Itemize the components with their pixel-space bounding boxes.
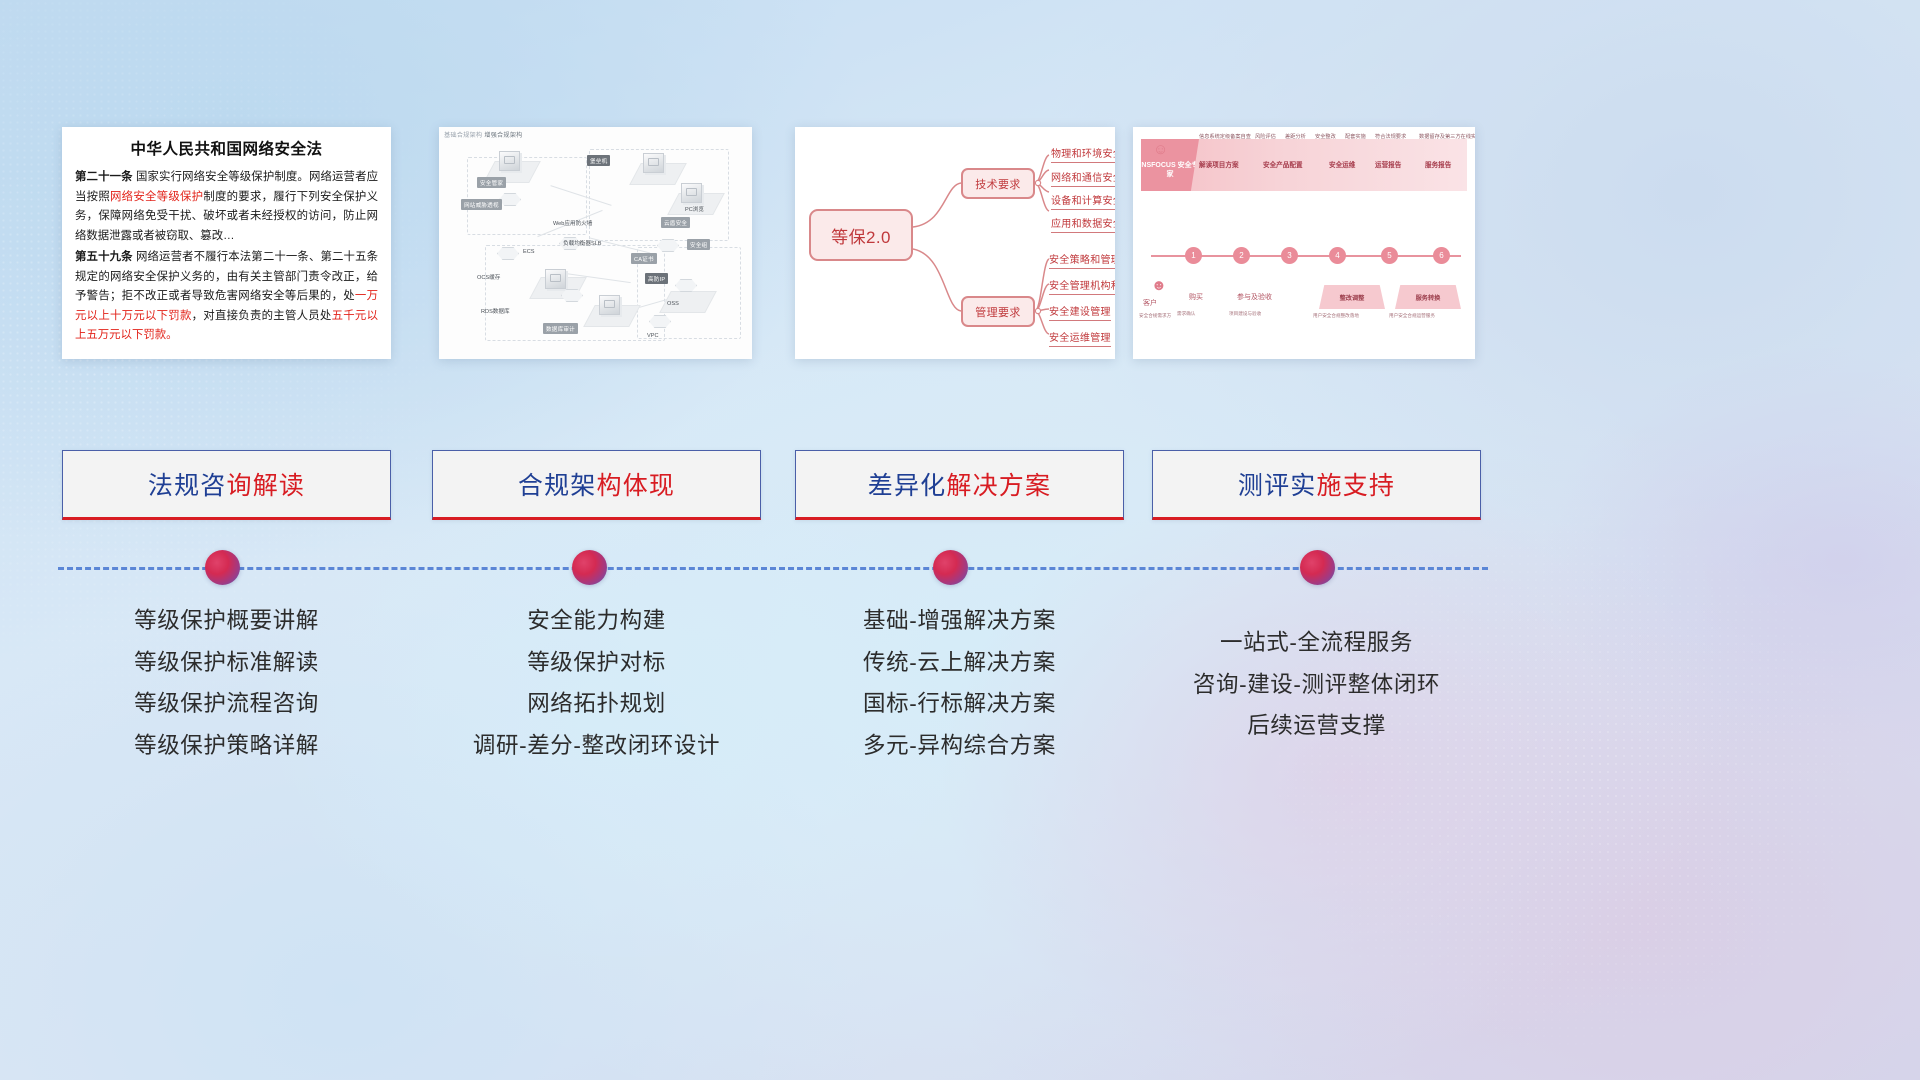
roadmap-band-top-1: 风险评估 (1255, 133, 1276, 140)
architecture-label-rds: RDS数据库 (481, 307, 510, 315)
roadmap-band-main-4: 服务报告 (1425, 159, 1451, 169)
label-2-blue: 差异化 (868, 472, 947, 500)
architecture-tag-ca: CA证书 (631, 253, 657, 264)
customer-person-icon: ☻ (1151, 277, 1167, 294)
roadmap-left-label-1: 参与及验收 (1237, 293, 1272, 303)
roadmap-band-top-0: 信息系统定级备案自查 (1199, 133, 1251, 140)
list-item: 等级保护对标 (432, 642, 761, 684)
mindmap-leaf-mgmt-3: 安全运维管理 (1049, 329, 1111, 347)
roadmap-right-sublabel-0: 用户安全合规整改落地 (1313, 313, 1359, 319)
law-article-59-number: 第五十九条 (75, 251, 133, 263)
roadmap-step-4[interactable]: 4 (1329, 247, 1346, 264)
label-1-blue: 合规架 (518, 472, 597, 500)
list-item: 安全能力构建 (432, 600, 761, 642)
timeline-dot-3[interactable] (933, 550, 968, 585)
architecture-header-enhanced: 增强合规架构 (484, 132, 522, 139)
architecture-label-pc: PC浏览 (685, 205, 704, 213)
roadmap-step-3[interactable]: 3 (1281, 247, 1298, 264)
roadmap-right-sublabel-1: 用户安全合规运营服务 (1389, 313, 1435, 319)
timeline-dashed-line (58, 567, 1488, 570)
architecture-tag-1: 安全管家 (477, 177, 506, 188)
detail-list-2: 安全能力构建 等级保护对标 网络拓扑规划 调研-差分-整改闭环设计 (432, 600, 761, 766)
roadmap-band-top-6: 数据留存及第三方在线实时对接 (1419, 133, 1475, 140)
list-item: 网络拓扑规划 (432, 683, 761, 725)
roadmap-step-6[interactable]: 6 (1433, 247, 1450, 264)
architecture-tag-0: 堡垒机 (587, 155, 610, 166)
law-article-21: 第二十一条 国家实行网络安全等级保护制度。网络运营者应当按照网络安全等级保护制度… (75, 168, 378, 246)
mindmap-canvas: 等保2.0 技术要求 物理和环境安全 网络和通信安全 设备和计算安全 应用和数据… (795, 127, 1115, 359)
label-box-evaluation-support[interactable]: 测评实施支持 (1152, 450, 1481, 520)
timeline-dot-1[interactable] (205, 550, 240, 585)
expert-person-icon: ☺ (1153, 141, 1168, 158)
list-item: 多元-异构综合方案 (795, 725, 1124, 767)
roadmap-step-1[interactable]: 1 (1185, 247, 1202, 264)
architecture-label-ocs: OCS缓存 (477, 273, 500, 281)
roadmap-customer-sub: 安全合规需求方 (1139, 313, 1171, 319)
list-item: 等级保护标准解读 (62, 642, 391, 684)
roadmap-band-main-1: 安全产品配置 (1263, 159, 1303, 169)
list-item: 一站式-全流程服务 (1152, 622, 1481, 664)
architecture-tag-antiddos: 高防IP (645, 273, 668, 284)
roadmap-step-2[interactable]: 2 (1233, 247, 1250, 264)
card-row: 中华人民共和国网络安全法 第二十一条 国家实行网络安全等级保护制度。网络运营者应… (0, 127, 1920, 359)
timeline-dot-4[interactable] (1300, 550, 1335, 585)
roadmap-customer-title: 客户 (1143, 299, 1157, 309)
detail-list-row: 等级保护概要讲解 等级保护标准解读 等级保护流程咨询 等级保护策略详解 安全能力… (0, 600, 1920, 800)
mindmap-leaf-tech-0: 物理和环境安全 (1051, 145, 1115, 163)
roadmap-band-top-3: 安全整改 (1315, 133, 1336, 140)
architecture-label-waf: Web应用防火墙 (553, 219, 592, 227)
mindmap-leaf-mgmt-2: 安全建设管理 (1049, 303, 1111, 321)
architecture-server-3 (681, 183, 702, 203)
law-article-59-text-b: ，对直接负责的主管人员处 (192, 310, 332, 322)
architecture-canvas: 基础合规架构 增强合规架构 (439, 127, 752, 359)
roadmap-band-top-2: 差距分析 (1285, 133, 1306, 140)
law-article-21-number: 第二十一条 (75, 171, 133, 183)
mindmap-leaf-mgmt-1: 安全管理机构和人员 (1049, 277, 1115, 295)
roadmap-left-sublabel-1: 项目建设与验收 (1229, 311, 1261, 317)
detail-list-1: 等级保护概要讲解 等级保护标准解读 等级保护流程咨询 等级保护策略详解 (62, 600, 391, 766)
mindmap-root-node[interactable]: 等保2.0 (809, 209, 913, 261)
architecture-header-basic: 基础合规架构 (444, 132, 482, 139)
detail-list-4: 一站式-全流程服务 咨询-建设-测评整体闭环 后续运营支撑 (1152, 600, 1481, 747)
roadmap-brand: NSFOCUS 安全专家 (1141, 139, 1199, 191)
architecture-label-oss: OSS (667, 301, 679, 307)
mindmap-leaf-mgmt-0: 安全策略和管理制度 (1049, 251, 1115, 269)
roadmap-canvas: NSFOCUS 安全专家 ☺ 信息系统定级备案自查 风险评估 差距分析 安全整改… (1133, 127, 1475, 359)
mindmap-branch-management[interactable]: 管理要求 (961, 296, 1035, 327)
label-box-row: 法规咨询解读 合规架构体现 差异化解决方案 测评实施支持 (0, 450, 1920, 522)
law-article-21-highlight: 网络安全等级保护 (110, 191, 203, 203)
detail-list-3: 基础-增强解决方案 传统-云上解决方案 国标-行标解决方案 多元-异构综合方案 (795, 600, 1124, 766)
architecture-server-1 (499, 151, 520, 171)
architecture-tag-4: 安全组 (687, 239, 710, 250)
list-item: 调研-差分-整改闭环设计 (432, 725, 761, 767)
timeline-dot-2[interactable] (572, 550, 607, 585)
label-2-red: 解决方案 (946, 472, 1051, 500)
roadmap-band-main-0: 解读项目方案 (1199, 159, 1239, 169)
label-3-red: 施支持 (1317, 472, 1396, 500)
architecture-label-vpc: VPC (647, 333, 659, 339)
roadmap-left-sublabel-0: 需求确认 (1177, 311, 1195, 317)
mindmap-leaf-tech-2: 设备和计算安全 (1051, 192, 1115, 210)
label-box-differentiated-solution[interactable]: 差异化解决方案 (795, 450, 1124, 520)
architecture-server-4 (545, 269, 566, 289)
label-0-blue: 法规咨 (148, 472, 227, 500)
architecture-server-2 (643, 153, 664, 173)
list-item: 等级保护策略详解 (62, 725, 391, 767)
roadmap-band-top-4: 配套实施 (1345, 133, 1366, 140)
list-item: 国标-行标解决方案 (795, 683, 1124, 725)
architecture-tag-3: 云盾安全 (661, 217, 690, 228)
roadmap-right-block-0: 整改调整 (1319, 285, 1385, 309)
roadmap-band: NSFOCUS 安全专家 (1141, 139, 1467, 191)
label-box-regulation-consulting[interactable]: 法规咨询解读 (62, 450, 391, 520)
law-title: 中华人民共和国网络安全法 (75, 137, 378, 159)
law-body: 中华人民共和国网络安全法 第二十一条 国家实行网络安全等级保护制度。网络运营者应… (62, 127, 391, 346)
mindmap-leaf-tech-1: 网络和通信安全 (1051, 169, 1115, 187)
label-0-red: 询解读 (227, 472, 306, 500)
list-item: 后续运营支撑 (1152, 705, 1481, 747)
list-item: 咨询-建设-测评整体闭环 (1152, 664, 1481, 706)
architecture-tag-dbaudit: 数据库审计 (543, 323, 578, 334)
roadmap-right-block-1: 服务转换 (1395, 285, 1461, 309)
list-item: 基础-增强解决方案 (795, 600, 1124, 642)
label-1-red: 构体现 (597, 472, 676, 500)
card-roadmap[interactable]: NSFOCUS 安全专家 ☺ 信息系统定级备案自查 风险评估 差距分析 安全整改… (1133, 127, 1475, 359)
list-item: 等级保护概要讲解 (62, 600, 391, 642)
roadmap-band-top-5: 符合法规要求 (1375, 133, 1406, 140)
roadmap-left-label-0: 购买 (1189, 293, 1203, 303)
roadmap-step-5[interactable]: 5 (1381, 247, 1398, 264)
architecture-tag-2: 网站威胁透视 (461, 199, 502, 210)
card-architecture-diagram[interactable]: 基础合规架构 增强合规架构 (439, 127, 752, 359)
list-item: 传统-云上解决方案 (795, 642, 1124, 684)
architecture-label-ecs: ECS (523, 249, 535, 255)
mindmap-branch-technical[interactable]: 技术要求 (961, 168, 1035, 199)
label-box-compliance-architecture[interactable]: 合规架构体现 (432, 450, 761, 520)
roadmap-band-main-2: 安全运维 (1329, 159, 1355, 169)
roadmap-band-main-3: 运营报告 (1375, 159, 1401, 169)
timeline (0, 540, 1920, 600)
card-law-document[interactable]: 中华人民共和国网络安全法 第二十一条 国家实行网络安全等级保护制度。网络运营者应… (62, 127, 391, 359)
architecture-server-5 (599, 295, 620, 315)
list-item: 等级保护流程咨询 (62, 683, 391, 725)
mindmap-leaf-tech-3: 应用和数据安全 (1051, 215, 1115, 233)
architecture-label-slb: 负载均衡器SLB (563, 239, 602, 247)
label-3-blue: 测评实 (1238, 472, 1317, 500)
card-mindmap[interactable]: 等保2.0 技术要求 物理和环境安全 网络和通信安全 设备和计算安全 应用和数据… (795, 127, 1115, 359)
law-article-59: 第五十九条 网络运营者不履行本法第二十一条、第二十五条规定的网络安全保护义务的，… (75, 248, 378, 346)
architecture-header: 基础合规架构 增强合规架构 (444, 130, 523, 139)
